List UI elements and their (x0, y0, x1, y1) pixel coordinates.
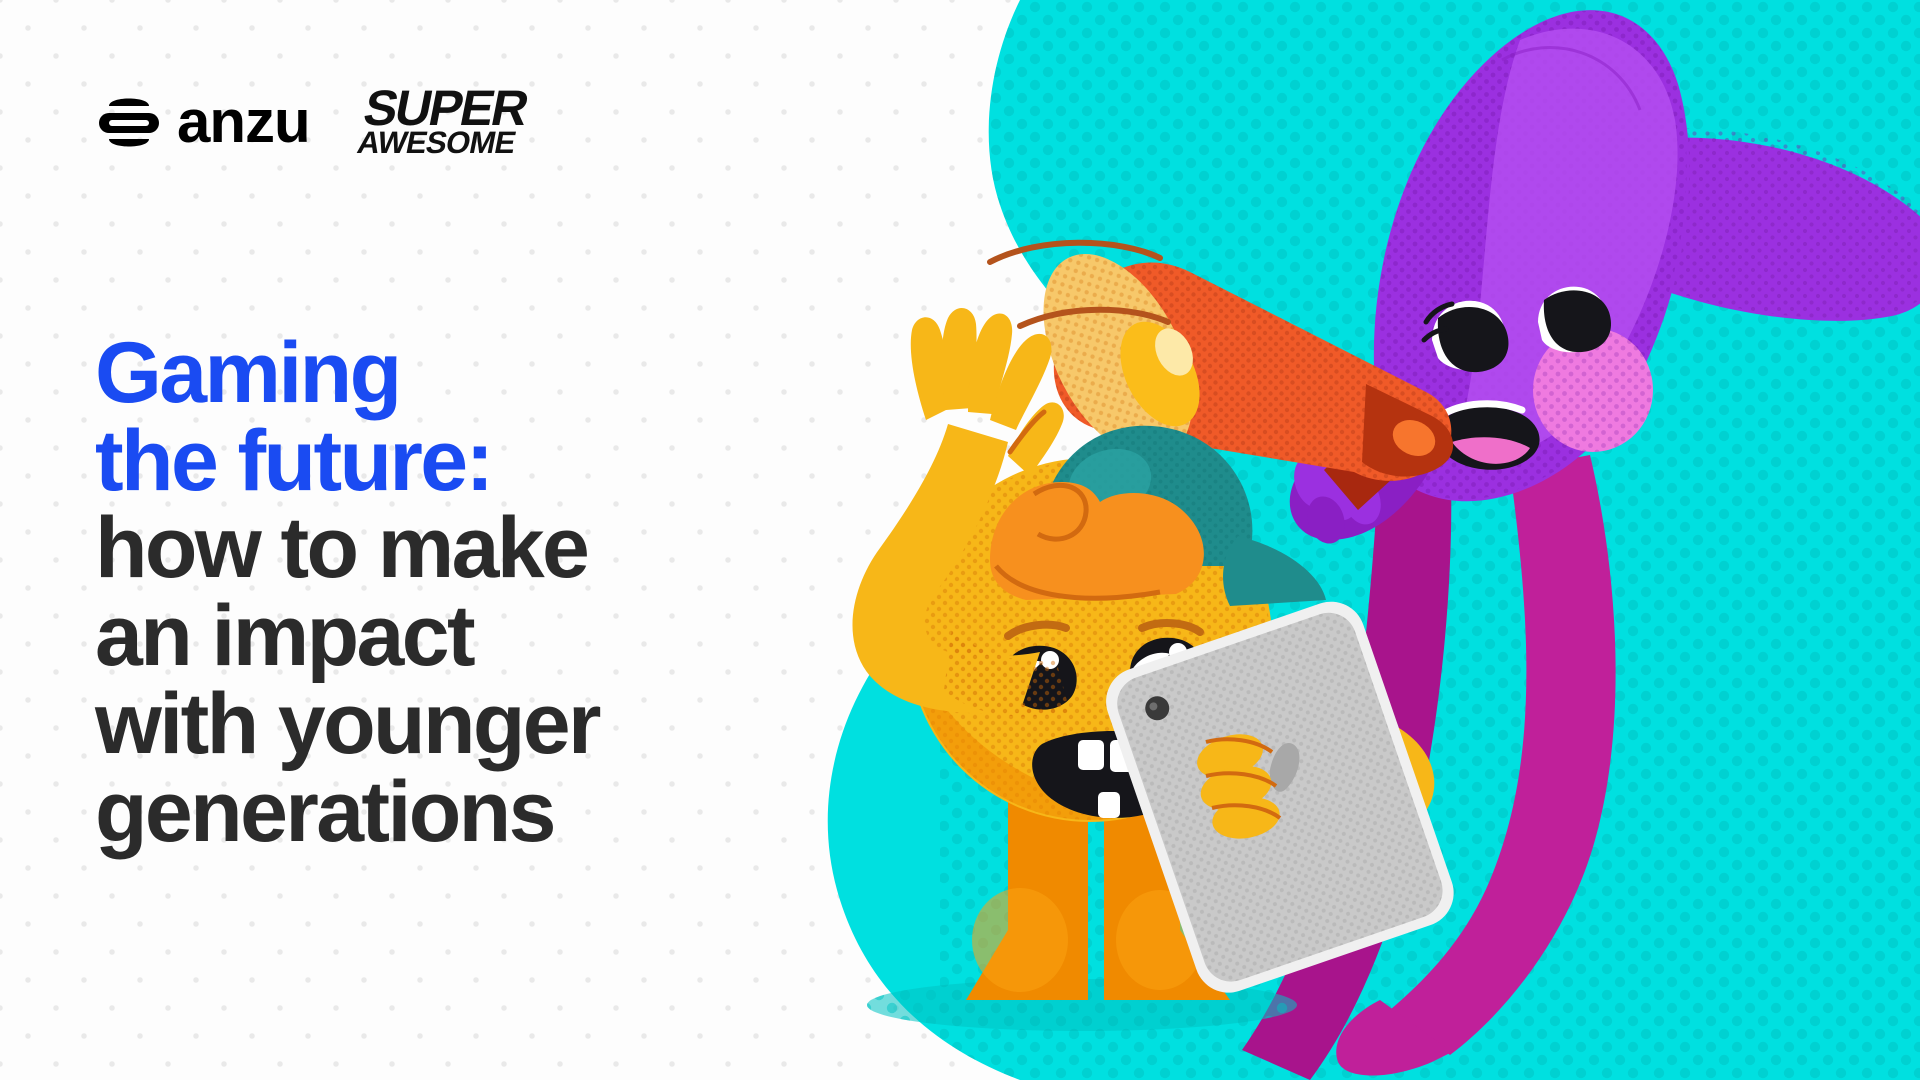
superawesome-line-1: SUPER (360, 88, 529, 129)
headline-line-4: an impact (95, 593, 755, 681)
superawesome-logo[interactable]: SUPER AWESOME (355, 88, 529, 155)
headline-line-3: how to make (95, 505, 755, 593)
headline-line-5: with younger (95, 681, 755, 769)
headline-line-2: the future: (95, 418, 755, 506)
logo-row: anzu SUPER AWESOME (95, 88, 523, 155)
headline-line-1: Gaming (95, 330, 755, 418)
anzu-wordmark: anzu (177, 92, 310, 152)
superawesome-line-2: AWESOME (355, 130, 517, 155)
illustration-artwork (690, 0, 1920, 1080)
illustration-panel (690, 0, 1920, 1080)
anzu-logo[interactable]: anzu (95, 90, 310, 154)
slide-root: anzu SUPER AWESOME Gaming the future: ho… (0, 0, 1920, 1080)
anzu-logo-mark (95, 90, 163, 154)
page-title: Gaming the future: how to make an impact… (95, 330, 755, 856)
headline-line-6: generations (95, 769, 755, 857)
